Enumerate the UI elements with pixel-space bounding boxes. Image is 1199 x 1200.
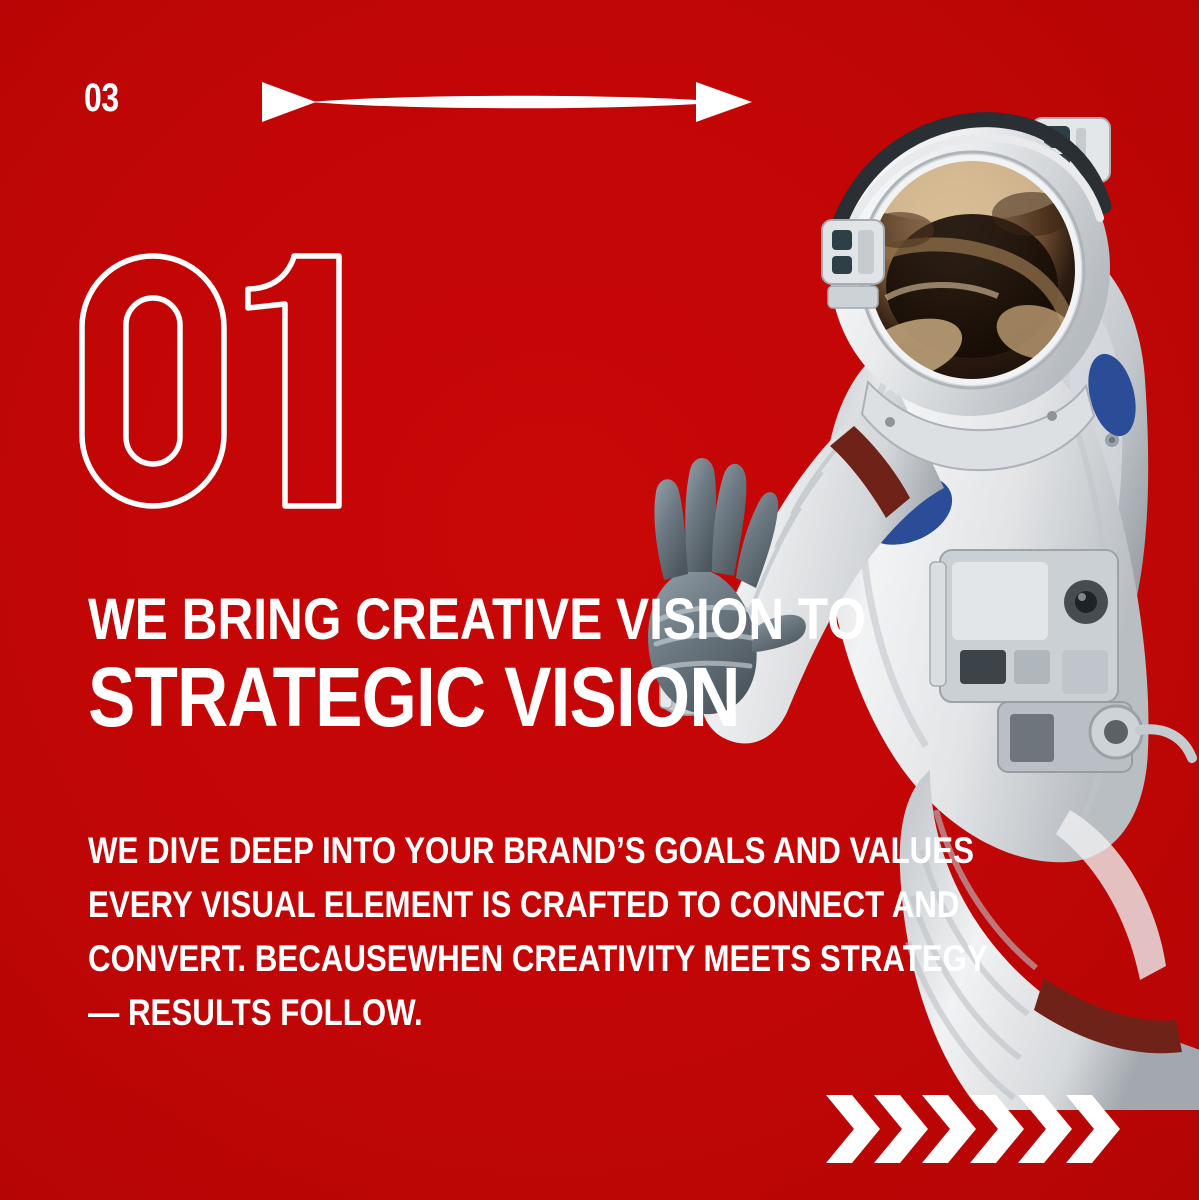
double-arrow-icon — [262, 78, 752, 126]
body-line: WE DIVE DEEP INTO YOUR BRAND’S GOALS AND… — [88, 832, 849, 869]
headline-line-2: STRATEGIC VISION — [88, 655, 789, 739]
big-number-outline — [78, 252, 368, 510]
body-copy-block: WE DIVE DEEP INTO YOUR BRAND’S GOALS AND… — [88, 832, 988, 1048]
slide-canvas: 03 — [0, 0, 1199, 1200]
slide-header: 03 — [0, 0, 1199, 160]
body-line: — RESULTS FOLLOW. — [88, 994, 849, 1031]
step-number-label: 03 — [84, 78, 119, 118]
body-line: EVERY VISUAL ELEMENT IS CRAFTED TO CONNE… — [88, 886, 849, 923]
body-line: CONVERT. BECAUSEWHEN CREATIVITY MEETS ST… — [88, 940, 849, 977]
chevron-arrows-icon — [826, 1093, 1126, 1165]
headline-line-1: WE BRING CREATIVE VISION TO — [88, 592, 798, 649]
headline-block: WE BRING CREATIVE VISION TO STRATEGIC VI… — [88, 592, 918, 739]
